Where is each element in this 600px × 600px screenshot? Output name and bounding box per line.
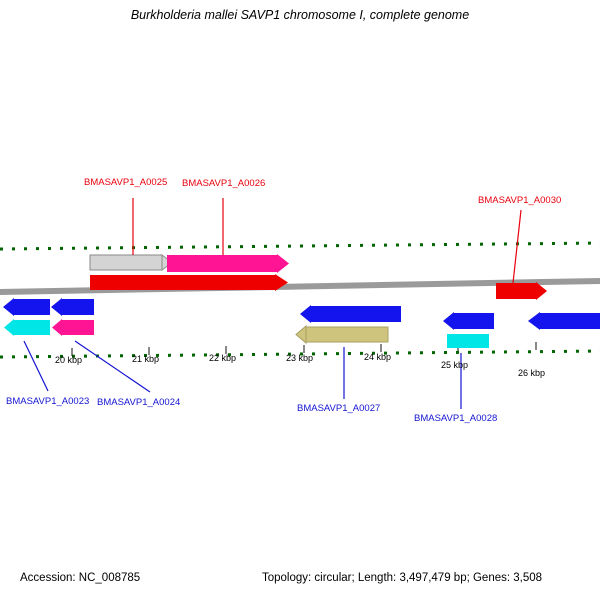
feature-label-a0025[interactable]: BMASAVP1_A0025 [84, 177, 167, 188]
feature-label-a0028[interactable]: BMASAVP1_A0028 [414, 413, 497, 424]
feature-a0027-cds [296, 326, 388, 343]
page-title: Burkholderia mallei SAVP1 chromosome I, … [0, 8, 600, 22]
feature-label-a0023[interactable]: BMASAVP1_A0023 [6, 396, 89, 407]
chromosome-axis [0, 281, 600, 292]
feature-label-a0030[interactable]: BMASAVP1_A0030 [478, 195, 561, 206]
dotted-guide-top [0, 243, 600, 249]
feature-a0023-gene [3, 298, 50, 316]
axis-tick-label-25kbp: 25 kbp [441, 360, 468, 370]
feature-a0030-gene [496, 282, 547, 300]
feature-a0024-cds [52, 319, 94, 336]
feature-a0026-gene [167, 275, 275, 290]
feature-right-gene [528, 312, 600, 330]
leader-a0030 [513, 210, 521, 283]
feature-a0026-cds [167, 254, 289, 273]
feature-label-a0027[interactable]: BMASAVP1_A0027 [297, 403, 380, 414]
axis-tick-label-21kbp: 21 kbp [132, 354, 159, 364]
feature-a0028-cds [447, 334, 489, 348]
feature-a0028-gene [443, 312, 494, 330]
feature-a0025-gene [90, 274, 288, 291]
axis-tick-label-22kbp: 22 kbp [209, 353, 236, 363]
axis-tick-label-24kbp: 24 kbp [364, 352, 391, 362]
feature-label-a0026[interactable]: BMASAVP1_A0026 [182, 178, 265, 189]
axis-tick-label-26kbp: 26 kbp [518, 368, 545, 378]
feature-a0027-gene [300, 305, 401, 323]
feature-label-a0024[interactable]: BMASAVP1_A0024 [97, 397, 180, 408]
feature-a0024-gene [51, 298, 94, 316]
feature-a0025-cds [90, 255, 172, 270]
axis-tick-label-20kbp: 20 kbp [55, 355, 82, 365]
feature-a0023-cds [4, 319, 50, 336]
leader-a0024 [75, 341, 150, 392]
accession-text: Accession: NC_008785 [20, 572, 140, 584]
genome-map [0, 0, 600, 600]
axis-tick-label-23kbp: 23 kbp [286, 353, 313, 363]
leader-a0023 [24, 341, 48, 391]
genome-stats-text: Topology: circular; Length: 3,497,479 bp… [262, 572, 542, 584]
